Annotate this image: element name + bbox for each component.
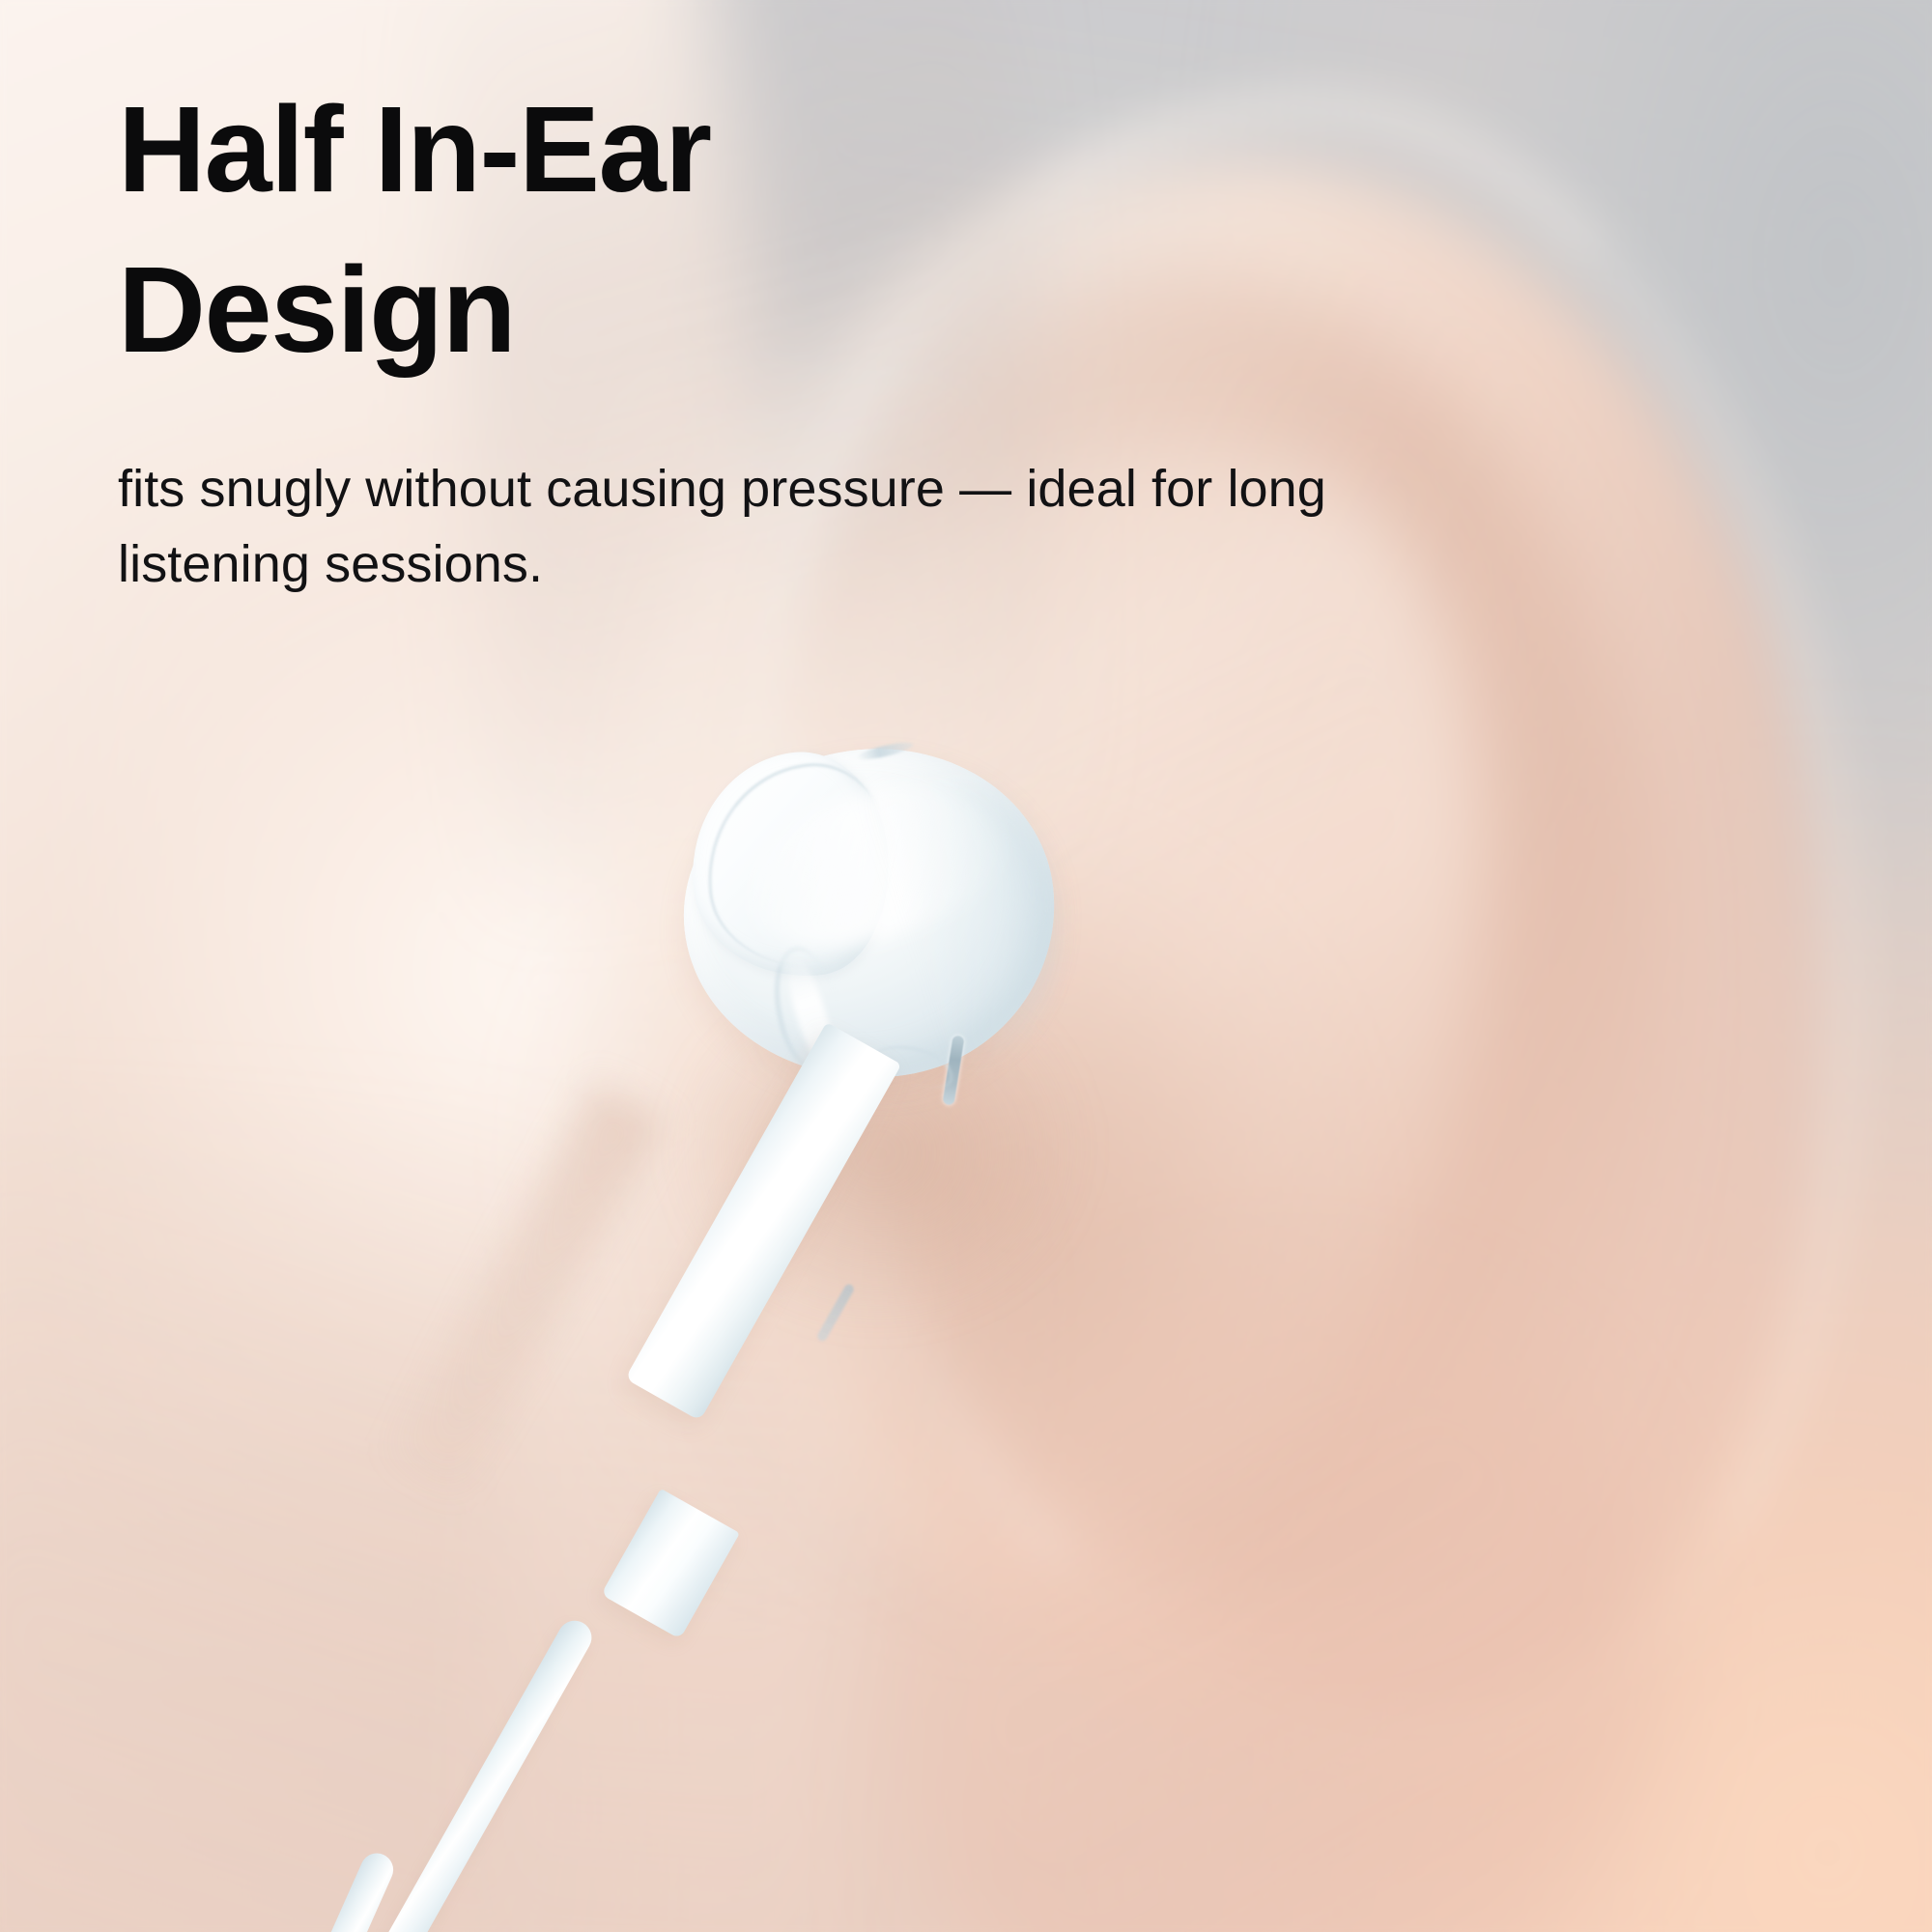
subtitle-text: fits snugly without causing pressure — i…	[118, 451, 1403, 603]
product-feature-poster: Half In-Ear Design fits snugly without c…	[0, 0, 1932, 1932]
earbud-stem-cuff	[601, 1489, 740, 1639]
copy-block: Half In-Ear Design fits snugly without c…	[118, 70, 1490, 602]
earbud-rim-shading	[870, 773, 1069, 1071]
earbud-cable	[378, 1614, 597, 1932]
earbud-stem-shadow	[390, 1083, 664, 1492]
earbud-cable-lower	[274, 1848, 399, 1932]
page-title: Half In-Ear Design	[118, 70, 1490, 391]
